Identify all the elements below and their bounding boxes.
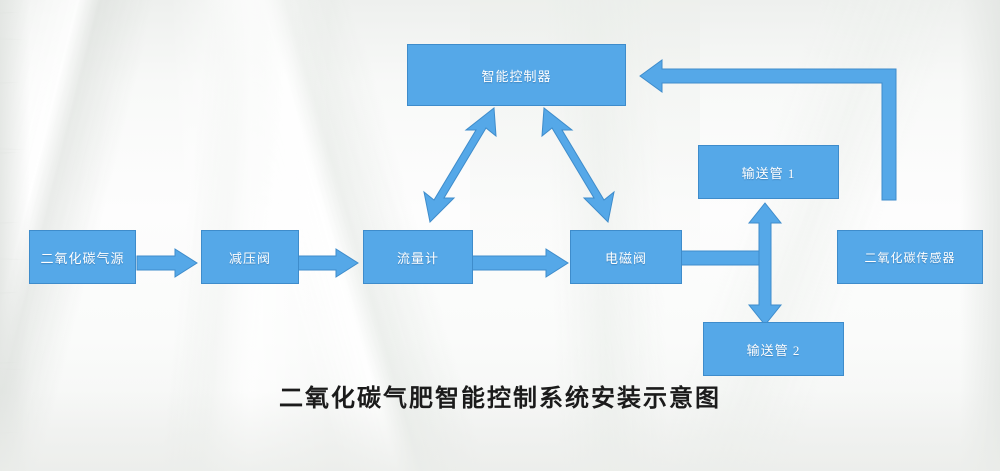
node-pipe-1[interactable]: 输送管 1 bbox=[698, 145, 839, 199]
node-controller[interactable]: 智能控制器 bbox=[407, 44, 626, 106]
node-pipe-2[interactable]: 输送管 2 bbox=[703, 322, 844, 376]
diagram-canvas: 二氧化碳气源 减压阀 流量计 电磁阀 智能控制器 输送管 1 输送管 2 二氧化… bbox=[0, 0, 1000, 471]
node-pipe-1-label: 输送管 1 bbox=[742, 163, 796, 182]
diagram-caption: 二氧化碳气肥智能控制系统安装示意图 bbox=[0, 378, 1000, 413]
node-co2-sensor[interactable]: 二氧化碳传感器 bbox=[837, 230, 983, 284]
node-pipe-2-label: 输送管 2 bbox=[747, 340, 801, 359]
node-flow-meter[interactable]: 流量计 bbox=[363, 230, 473, 284]
node-flow-meter-label: 流量计 bbox=[397, 248, 439, 267]
node-pressure-valve[interactable]: 减压阀 bbox=[201, 230, 299, 284]
node-solenoid-valve[interactable]: 电磁阀 bbox=[570, 230, 682, 284]
node-co2-sensor-label: 二氧化碳传感器 bbox=[864, 249, 955, 266]
node-co2-source[interactable]: 二氧化碳气源 bbox=[29, 230, 136, 284]
node-solenoid-valve-label: 电磁阀 bbox=[605, 248, 647, 267]
node-co2-source-label: 二氧化碳气源 bbox=[40, 248, 124, 267]
arrow-pipe2-to-pipe1-bidirectional bbox=[745, 203, 787, 327]
node-pressure-valve-label: 减压阀 bbox=[229, 248, 271, 267]
node-controller-label: 智能控制器 bbox=[481, 66, 551, 85]
